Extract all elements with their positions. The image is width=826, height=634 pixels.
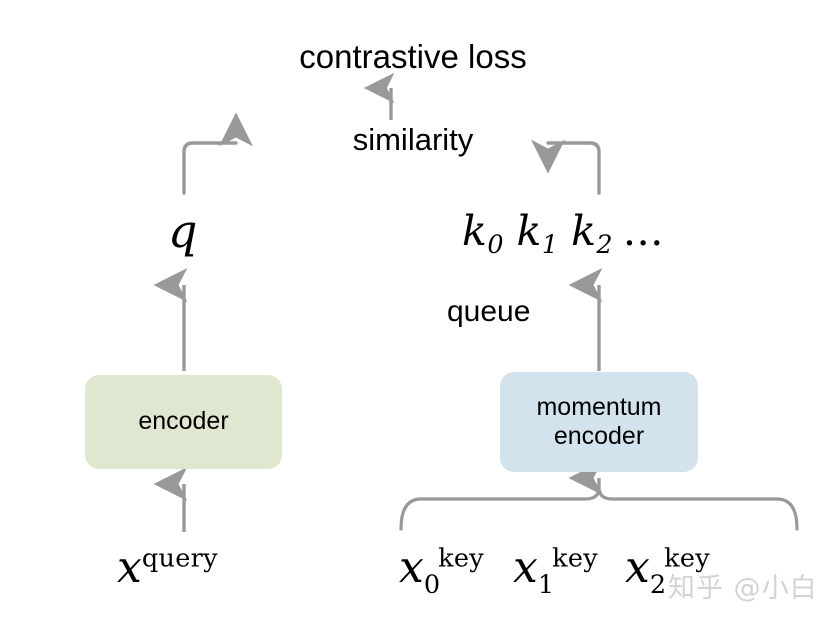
key-representations-row: k0k1k2… <box>462 211 666 257</box>
queue-label: queue <box>447 297 530 327</box>
momentum-encoder-box-label: momentumencoder <box>536 393 661 452</box>
key-symbol-0: k0 <box>462 207 504 255</box>
input-x-query: xquery <box>117 546 218 590</box>
input-x-key-1: x1key <box>513 546 598 598</box>
query-representation-symbol: q <box>168 208 197 254</box>
encoder-box-label: encoder <box>138 407 228 437</box>
similarity-label: similarity <box>0 124 826 155</box>
key-symbol-1: k1 <box>517 207 559 255</box>
key-symbol-2: k2 <box>571 207 613 255</box>
zhihu-watermark: 知乎 @小白 <box>668 566 818 605</box>
encoder-box[interactable]: encoder <box>85 375 282 469</box>
input-x-key-0: x0key <box>399 546 484 598</box>
diagram-canvas: contrastive loss similarity q k0k1k2… qu… <box>0 0 826 634</box>
momentum-encoder-line-1: momentum <box>536 393 661 421</box>
momentum-encoder-box[interactable]: momentumencoder <box>500 372 698 472</box>
arrows-layer <box>0 0 826 634</box>
momentum-encoder-line-2: encoder <box>554 422 644 450</box>
key-inputs-brace <box>401 487 797 529</box>
contrastive-loss-label: contrastive loss <box>0 40 826 73</box>
ellipsis-label: … <box>623 207 666 255</box>
